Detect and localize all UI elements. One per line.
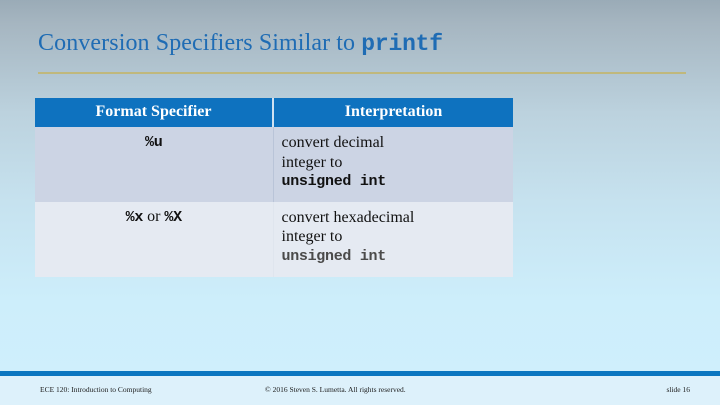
cell-format-specifier: %u — [35, 127, 273, 202]
conversion-specifier-table: Format Specifier Interpretation %u conve… — [35, 98, 513, 277]
title-block: Conversion Specifiers Similar to printf — [38, 30, 688, 58]
footer-course-label: ECE 120: Introduction to Computing — [40, 385, 152, 394]
page-title: Conversion Specifiers Similar to printf — [38, 30, 688, 58]
interpretation-line-3-code: unsigned int — [282, 172, 506, 192]
table-header-row: Format Specifier Interpretation — [35, 98, 513, 127]
interpretation-line-1: convert hexadecimal — [282, 208, 506, 228]
page-title-code: printf — [361, 31, 443, 57]
table-head: Format Specifier Interpretation — [35, 98, 513, 127]
footer-copyright-label: © 2016 Steven S. Lumetta. All rights res… — [265, 385, 406, 394]
title-divider-rule — [38, 72, 686, 74]
cell-interpretation: convert hexadecimal integer to unsigned … — [273, 202, 513, 277]
cell-interpretation: convert decimal integer to unsigned int — [273, 127, 513, 202]
specifier-code: %x — [126, 209, 143, 226]
table-row: %x or %X convert hexadecimal integer to … — [35, 202, 513, 277]
interpretation-line-1: convert decimal — [282, 133, 506, 153]
cell-format-specifier: %x or %X — [35, 202, 273, 277]
specifier-code: %u — [145, 134, 162, 151]
interpretation-line-2: integer to — [282, 153, 506, 173]
column-header-interpretation: Interpretation — [273, 98, 513, 127]
interpretation-line-2: integer to — [282, 227, 506, 247]
page-title-text: Conversion Specifiers Similar to — [38, 30, 361, 56]
table-row: %u convert decimal integer to unsigned i… — [35, 127, 513, 202]
footer-slide-number: slide 16 — [666, 385, 690, 394]
specifier-joiner: or — [143, 208, 164, 225]
specifier-code-alt: %X — [164, 209, 181, 226]
column-header-format-specifier: Format Specifier — [35, 98, 273, 127]
slide-footer: ECE 120: Introduction to Computing © 201… — [0, 376, 720, 405]
slide-canvas: Conversion Specifiers Similar to printf … — [0, 0, 720, 405]
interpretation-line-3-code: unsigned int — [282, 247, 506, 267]
table-body: %u convert decimal integer to unsigned i… — [35, 127, 513, 277]
